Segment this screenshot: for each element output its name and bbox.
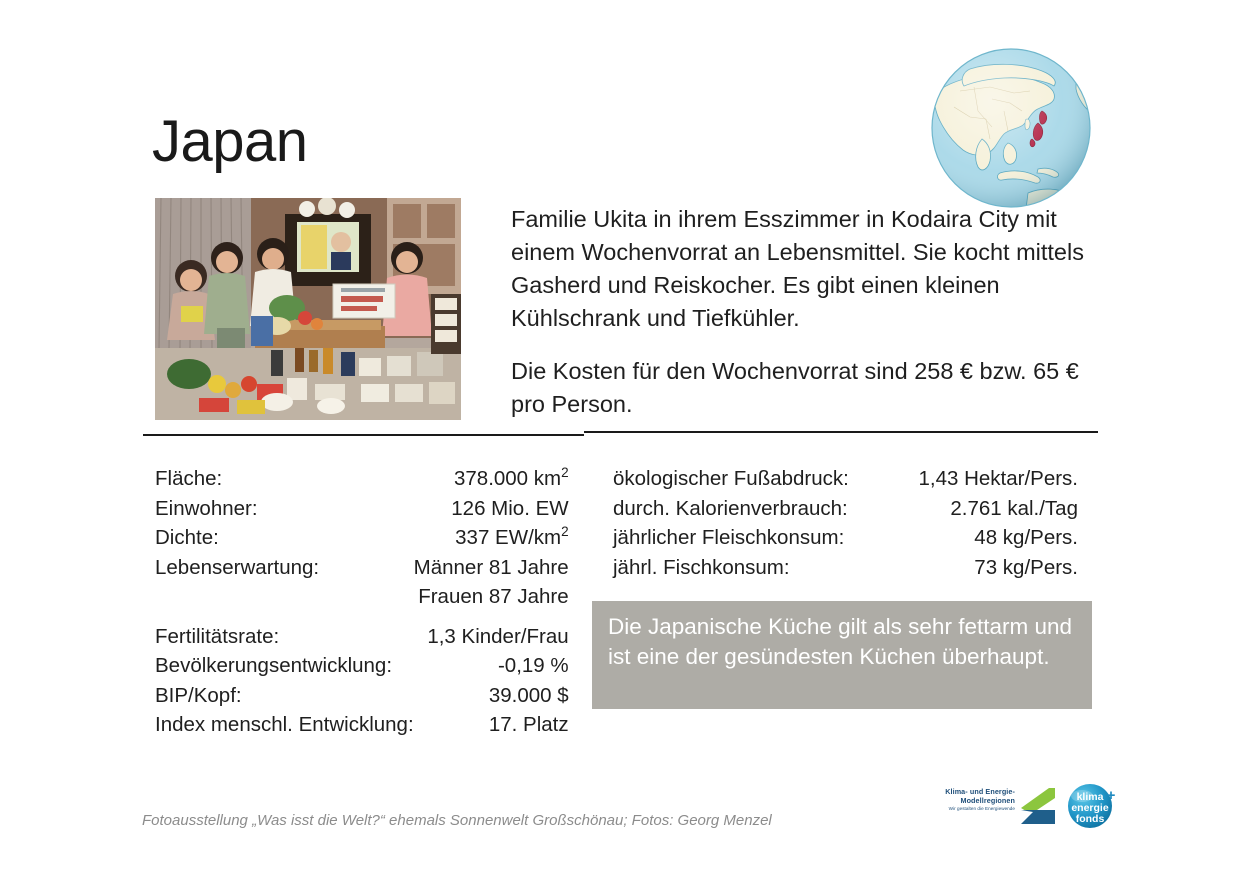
stat-value-text: Frauen 87 Jahre bbox=[418, 585, 568, 608]
stat-value-text: Männer 81 Jahre bbox=[414, 556, 569, 579]
stat-label: ökologischer Fußabdruck: bbox=[613, 464, 890, 494]
footer-credit: Fotoausstellung „Was isst die Welt?“ ehe… bbox=[142, 810, 772, 832]
stats-table-consumption: ökologischer Fußabdruck: 1,43 Hektar/Per… bbox=[613, 464, 1078, 582]
stat-label: Index menschl. Entwicklung: bbox=[155, 710, 414, 740]
stat-value: 1,43 Hektar/Pers. bbox=[890, 464, 1078, 494]
table-row: Frauen 87 Jahre bbox=[155, 582, 569, 612]
table-row: Index menschl. Entwicklung: 17. Platz bbox=[155, 710, 569, 740]
stat-label: Fläche: bbox=[155, 464, 414, 494]
stat-unit-superscript: 2 bbox=[561, 465, 569, 480]
table-row: Fertilitätsrate: 1,3 Kinder/Frau bbox=[155, 622, 569, 652]
page-title: Japan bbox=[152, 107, 308, 177]
divider-left bbox=[143, 434, 584, 436]
table-row: jährlicher Fleischkonsum: 48 kg/Pers. bbox=[613, 523, 1078, 553]
kem-logo-text: Klima- und Energie- Modellregionen Wir g… bbox=[933, 787, 1015, 813]
table-row: Einwohner: 126 Mio. EW bbox=[155, 494, 569, 524]
stat-value: 2.761 kal./Tag bbox=[890, 494, 1078, 524]
stat-value: 48 kg/Pers. bbox=[890, 523, 1078, 553]
table-row: ökologischer Fußabdruck: 1,43 Hektar/Per… bbox=[613, 464, 1078, 494]
stat-label: Bevölkerungsentwicklung: bbox=[155, 651, 414, 681]
intro-text: Familie Ukita in ihrem Esszimmer in Koda… bbox=[511, 203, 1099, 421]
callout-text: Die Japanische Küche gilt als sehr fetta… bbox=[608, 612, 1076, 672]
stat-value-text: 378.000 km bbox=[454, 467, 561, 490]
logo-klima-energie-modellregionen: Klima- und Energie- Modellregionen Wir g… bbox=[933, 784, 1058, 828]
divider-right bbox=[584, 431, 1098, 433]
intro-paragraph-1: Familie Ukita in ihrem Esszimmer in Koda… bbox=[511, 203, 1099, 335]
kef-plus: + bbox=[1107, 787, 1116, 804]
intro-paragraph-2: Die Kosten für den Wochenvorrat sind 258… bbox=[511, 355, 1099, 421]
stat-label: Lebenserwartung: bbox=[155, 553, 414, 583]
stat-value: Frauen 87 Jahre bbox=[414, 582, 569, 612]
stat-value: 73 kg/Pers. bbox=[890, 553, 1078, 583]
table-row: Dichte: 337 EW/km2 bbox=[155, 523, 569, 553]
table-row: BIP/Kopf: 39.000 $ bbox=[155, 681, 569, 711]
stat-label: durch. Kalorienverbrauch: bbox=[613, 494, 890, 524]
kef-line3: fonds bbox=[1076, 813, 1105, 825]
stat-value: 378.000 km2 bbox=[414, 464, 569, 494]
stat-value: 39.000 $ bbox=[414, 681, 569, 711]
kem-logo-tagline: Wir gestalten die Energiewende bbox=[933, 805, 1015, 813]
stat-value: Männer 81 Jahre bbox=[414, 553, 569, 583]
stat-value: -0,19 % bbox=[414, 651, 569, 681]
logo-klima-energie-fonds: klima energie fonds + bbox=[1064, 782, 1122, 830]
callout-box: Die Japanische Küche gilt als sehr fetta… bbox=[592, 601, 1092, 709]
kem-logo-line2: Modellregionen bbox=[933, 796, 1015, 805]
stat-value: 1,3 Kinder/Frau bbox=[414, 622, 569, 652]
stat-label bbox=[155, 582, 414, 612]
stat-value-text: 39.000 $ bbox=[489, 684, 569, 707]
stat-label: Einwohner: bbox=[155, 494, 414, 524]
stat-label: jährlicher Fleischkonsum: bbox=[613, 523, 890, 553]
stat-label: BIP/Kopf: bbox=[155, 681, 414, 711]
table-row: jährl. Fischkonsum: 73 kg/Pers. bbox=[613, 553, 1078, 583]
stats-table-demographics: Fläche: 378.000 km2 Einwohner: 126 Mio. … bbox=[155, 464, 569, 740]
table-row: Bevölkerungsentwicklung: -0,19 % bbox=[155, 651, 569, 681]
stat-value-text: 17. Platz bbox=[489, 713, 569, 736]
stat-label: Dichte: bbox=[155, 523, 414, 553]
stat-value-text: 126 Mio. EW bbox=[451, 497, 568, 520]
globe-asia-japan-highlighted-icon bbox=[930, 47, 1092, 209]
stat-label: jährl. Fischkonsum: bbox=[613, 553, 890, 583]
kem-logo-line1: Klima- und Energie- bbox=[933, 787, 1015, 796]
slide-japan: Japan bbox=[0, 0, 1256, 886]
stat-value-text: 1,3 Kinder/Frau bbox=[427, 625, 568, 648]
table-row: Lebenserwartung: Männer 81 Jahre bbox=[155, 553, 569, 583]
stat-label: Fertilitätsrate: bbox=[155, 622, 414, 652]
family-photo-ukita-japan bbox=[155, 198, 461, 420]
table-row-spacer bbox=[155, 612, 569, 622]
table-row: Fläche: 378.000 km2 bbox=[155, 464, 569, 494]
stat-value-text: -0,19 % bbox=[498, 654, 569, 677]
stat-value: 126 Mio. EW bbox=[414, 494, 569, 524]
stat-unit-superscript: 2 bbox=[561, 524, 569, 539]
table-row: durch. Kalorienverbrauch: 2.761 kal./Tag bbox=[613, 494, 1078, 524]
stat-value: 17. Platz bbox=[414, 710, 569, 740]
kem-logo-mark-icon bbox=[1019, 786, 1057, 831]
stat-value-text: 337 EW/km bbox=[455, 526, 561, 549]
stat-value: 337 EW/km2 bbox=[414, 523, 569, 553]
